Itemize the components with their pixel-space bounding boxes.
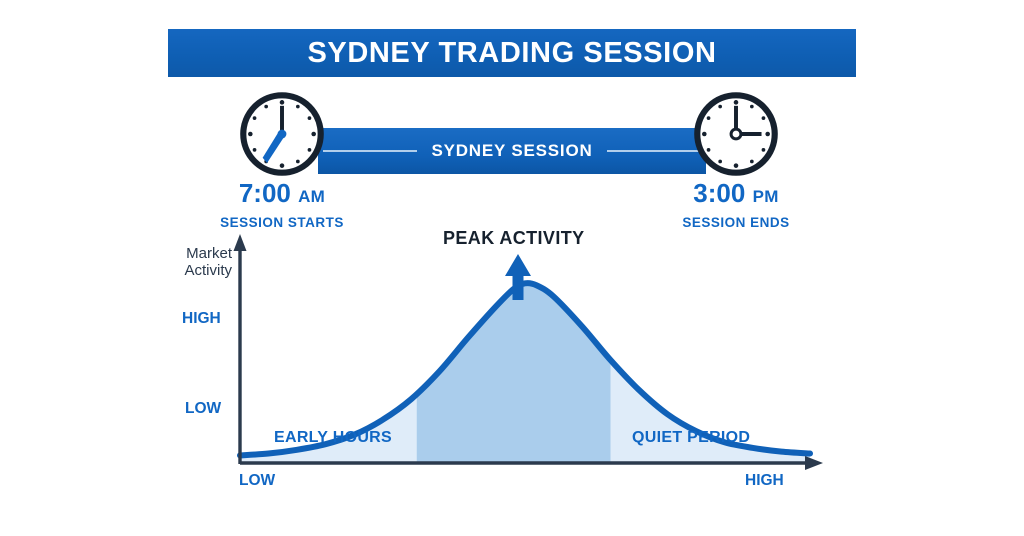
page-title-bar: SYDNEY TRADING SESSION <box>168 29 856 77</box>
label-quiet-period: QUIET PERIOD <box>632 429 750 447</box>
session-start-time: 7:00 AM <box>167 178 397 212</box>
y-tick-high: HIGH <box>182 310 221 328</box>
x-tick-low: LOW <box>239 472 275 490</box>
y-tick-low: LOW <box>185 400 221 418</box>
label-peak-activity: PEAK ACTIVITY <box>443 228 585 249</box>
session-band: SYDNEY SESSION <box>318 128 706 174</box>
clock-icon-session-start <box>238 90 326 178</box>
y-axis-title-text: Market Activity <box>184 245 232 279</box>
band-rule-right <box>607 150 701 152</box>
session-band-label: SYDNEY SESSION <box>431 141 592 161</box>
x-axis-arrowhead <box>805 456 823 470</box>
label-early-hours: EARLY HOURS <box>274 429 392 447</box>
session-start-meridiem: AM <box>298 187 325 206</box>
session-start-time-value: 7:00 <box>239 178 291 208</box>
page-title: SYDNEY TRADING SESSION <box>307 37 716 70</box>
y-axis-title: Market Activity <box>172 245 232 279</box>
session-end-time: 3:00 PM <box>621 178 851 212</box>
x-tick-high: HIGH <box>745 472 784 490</box>
session-end-time-value: 3:00 <box>693 178 745 208</box>
band-rule-left <box>323 150 417 152</box>
session-end-meridiem: PM <box>753 187 779 206</box>
y-axis-arrowhead <box>234 234 247 251</box>
clock-icon-session-end <box>692 90 780 178</box>
